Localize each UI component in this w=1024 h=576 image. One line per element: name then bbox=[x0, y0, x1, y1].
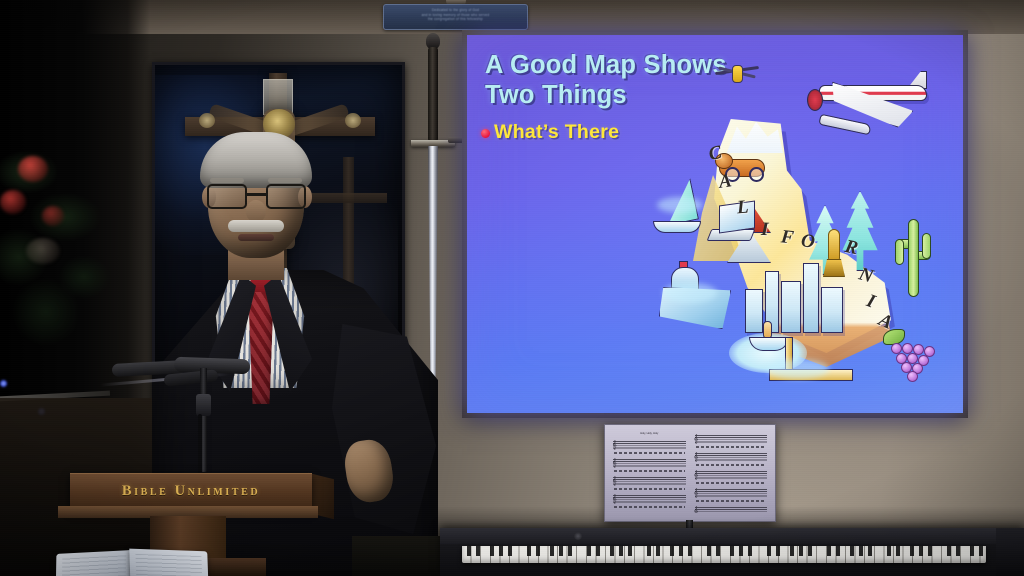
building-5 bbox=[821, 287, 843, 333]
pulpit-name-plaque: Bible Unlimited bbox=[70, 473, 312, 509]
clef-r-4: 𝄞 bbox=[694, 489, 699, 497]
slide-bullet-item: What’s There bbox=[481, 121, 619, 144]
figure-right-hand bbox=[345, 113, 361, 128]
cactus-arm-right-upper bbox=[922, 233, 931, 259]
staff-r-3 bbox=[695, 471, 768, 480]
wall-memorial-plaque: Dedicated to the glory of God and in lov… bbox=[383, 4, 528, 30]
clef-r-3: 𝄞 bbox=[694, 471, 699, 479]
lens-right bbox=[266, 184, 306, 209]
piano-knob bbox=[574, 532, 582, 540]
staff-l-3 bbox=[613, 477, 686, 486]
helicopter-cabin bbox=[732, 65, 743, 83]
red-flower-2 bbox=[0, 190, 26, 214]
staff-l-4 bbox=[613, 495, 686, 504]
mouth bbox=[238, 234, 274, 241]
helicopter-icon bbox=[715, 61, 759, 87]
bicycle-wheel-rear bbox=[749, 167, 764, 182]
map-letter-o: O bbox=[800, 230, 817, 254]
music-stand: Holy, Holy, Holy 𝄞 𝄞 𝄞 𝄞 𝄞 bbox=[604, 424, 776, 530]
staff-r-2 bbox=[695, 453, 768, 462]
lyrics-l-1 bbox=[614, 452, 685, 454]
sheet-music-page-left: Holy, Holy, Holy 𝄞 𝄞 𝄞 𝄞 bbox=[611, 431, 688, 513]
microphone-assembly bbox=[112, 352, 282, 482]
red-flower-3 bbox=[42, 206, 64, 226]
slide-title-line-1: A Good Map Shows bbox=[485, 51, 727, 79]
lyrics-r-3 bbox=[696, 482, 767, 484]
sheet-music-page-right: 𝄞 𝄞 𝄞 𝄞 𝄞 bbox=[693, 431, 770, 513]
clef-l-1: 𝄞 bbox=[612, 441, 617, 449]
sheet-music-title: Holy, Holy, Holy bbox=[640, 432, 658, 435]
piano-black-keys bbox=[462, 546, 986, 556]
clef-r-5: 𝄞 bbox=[694, 507, 699, 513]
red-flower-1 bbox=[18, 156, 48, 182]
clef-l-3: 𝄞 bbox=[612, 477, 617, 485]
mustache bbox=[228, 220, 284, 232]
slide-bullet-text: What’s There bbox=[494, 121, 619, 144]
staff-l-1 bbox=[613, 441, 686, 450]
figure-left-hand bbox=[199, 113, 215, 128]
lyrics-l-4 bbox=[614, 506, 685, 508]
clef-r-1: 𝄞 bbox=[694, 435, 699, 443]
cloud-wisp-3 bbox=[767, 359, 829, 379]
digital-piano bbox=[440, 528, 1024, 576]
staff-l-2 bbox=[613, 459, 686, 468]
lens-left bbox=[207, 184, 247, 209]
cloud-wisp-2 bbox=[663, 283, 717, 303]
eyebrow-right bbox=[268, 178, 302, 183]
lyrics-l-2 bbox=[614, 470, 685, 472]
video-frame: Dedicated to the glory of God and in lov… bbox=[0, 0, 1024, 576]
cloud-wisp-1 bbox=[657, 197, 703, 213]
blue-light-1 bbox=[0, 380, 7, 387]
flower-arrangement bbox=[0, 132, 122, 382]
pulpit-plaque-text: Bible Unlimited bbox=[122, 483, 260, 500]
staff-r-5 bbox=[695, 507, 768, 513]
bible-page-left bbox=[56, 550, 133, 576]
map-letter-a: A bbox=[718, 170, 734, 194]
bible-text-lines-left bbox=[62, 555, 126, 576]
cactus-arm-left-upper bbox=[895, 239, 904, 265]
glasses-bridge bbox=[247, 193, 267, 196]
microphone-clip bbox=[196, 394, 211, 416]
lyrics-l-3 bbox=[614, 488, 685, 490]
plaque-line-3: the congregation of this fellowship bbox=[390, 17, 521, 22]
staff-r-1 bbox=[695, 435, 768, 444]
piano-right-end bbox=[996, 528, 1024, 576]
bullet-dot-icon bbox=[481, 129, 490, 138]
bible-text-lines-right bbox=[135, 554, 202, 576]
map-letter-l: L bbox=[736, 197, 749, 220]
cactus-trunk bbox=[908, 219, 919, 297]
seaplane-pontoon bbox=[818, 114, 871, 136]
bench bbox=[352, 536, 448, 576]
piano-control-panel bbox=[440, 528, 1024, 544]
lyrics-r-4 bbox=[696, 500, 767, 502]
clef-l-4: 𝄞 bbox=[612, 495, 617, 503]
eyeglasses-icon bbox=[206, 184, 308, 210]
grapes-icon bbox=[881, 329, 945, 375]
map-letter-i: I bbox=[761, 219, 769, 241]
open-bible bbox=[56, 546, 208, 576]
staff-r-4 bbox=[695, 489, 768, 498]
slide-title-line-2: Two Things bbox=[485, 81, 627, 109]
bible-page-right bbox=[129, 549, 208, 576]
lyrics-r-2 bbox=[696, 464, 767, 466]
lyrics-r-1 bbox=[696, 446, 767, 448]
sheet-music: Holy, Holy, Holy 𝄞 𝄞 𝄞 𝄞 𝄞 bbox=[604, 424, 776, 522]
presentation-slide: A Good Map Shows Two Things What’s There bbox=[467, 35, 963, 413]
cactus-icon bbox=[895, 219, 931, 297]
pale-flower bbox=[26, 238, 60, 264]
california-map-illustration: C A L I F O R N I A bbox=[667, 79, 957, 379]
clef-l-2: 𝄞 bbox=[612, 459, 617, 467]
sailboat-hull bbox=[653, 221, 701, 233]
seaplane-propeller bbox=[807, 89, 823, 111]
clef-r-2: 𝄞 bbox=[694, 453, 699, 461]
grape-10 bbox=[907, 371, 918, 382]
pulpit: Bible Unlimited bbox=[20, 470, 360, 576]
map-letter-f: F bbox=[780, 226, 795, 249]
eyebrow-left bbox=[210, 178, 244, 183]
